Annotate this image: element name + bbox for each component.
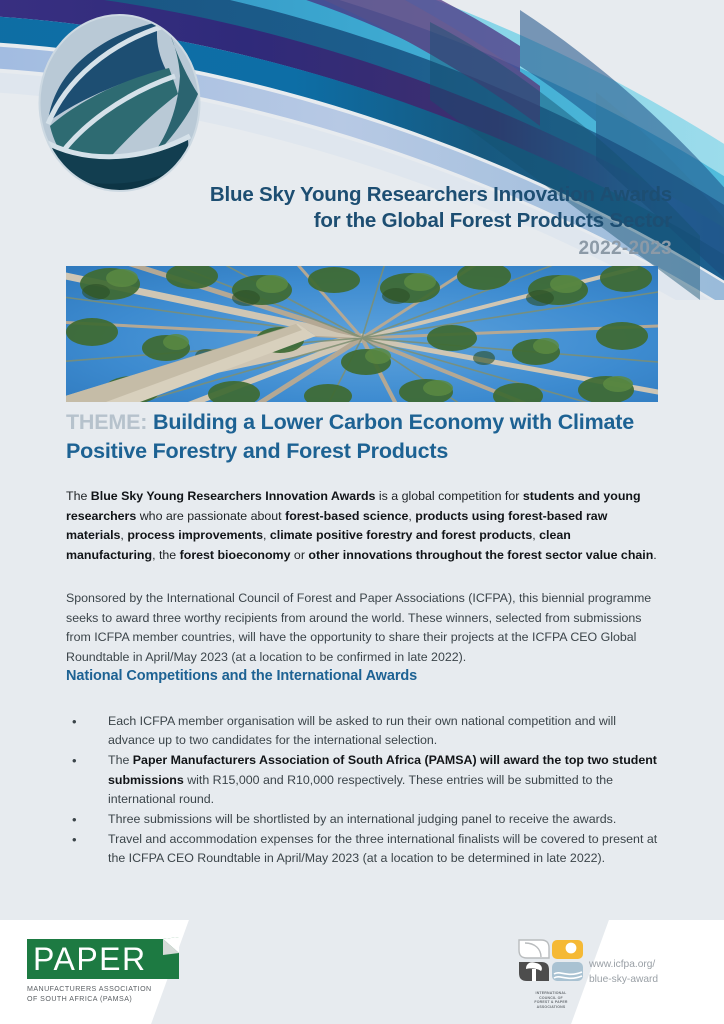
awards-bullet-list: •Each ICFPA member organisation will be … xyxy=(66,712,664,870)
eucalyptus-forest-canopy-photo xyxy=(66,266,658,402)
list-item-text: Each ICFPA member organisation will be a… xyxy=(108,714,616,747)
theme-value: Building a Lower Carbon Economy with Cli… xyxy=(66,410,634,463)
page-title-line1: Blue Sky Young Researchers Innovation Aw… xyxy=(150,182,672,208)
icfpa-url-line2: blue-sky-award xyxy=(589,972,719,987)
pamsa-subtitle: MANUFACTURERS ASSOCIATION OF SOUTH AFRIC… xyxy=(27,984,187,1005)
pamsa-paper-logo: PAPER MANUFACTURERS ASSOCIATION OF SOUTH… xyxy=(27,937,187,1005)
list-item-text: Three submissions will be shortlisted by… xyxy=(108,812,616,826)
icfpa-url[interactable]: www.icfpa.org/ blue-sky-award xyxy=(589,957,719,987)
list-item: •Three submissions will be shortlisted b… xyxy=(66,810,664,829)
pamsa-wordmark-mark: PAPER xyxy=(27,937,179,979)
bullet-marker-icon: • xyxy=(72,751,77,770)
pamsa-subtitle-line1: MANUFACTURERS ASSOCIATION xyxy=(27,984,187,994)
intro-paragraph: The Blue Sky Young Researchers Innovatio… xyxy=(66,487,662,565)
bullet-marker-icon: • xyxy=(72,712,77,731)
footer: PAPER MANUFACTURERS ASSOCIATION OF SOUTH… xyxy=(0,920,724,1024)
poster-page: Blue Sky Young Researchers Innovation Aw… xyxy=(0,0,724,1024)
title-block: Blue Sky Young Researchers Innovation Aw… xyxy=(150,182,672,264)
icfpa-caption: INTERNATIONAL COUNCIL OF FOREST & PAPER … xyxy=(517,991,585,1009)
blue-sky-globe-leaf-logo xyxy=(38,14,201,192)
list-item-text: Travel and accommodation expenses for th… xyxy=(108,832,657,865)
sponsor-paragraph: Sponsored by the International Council o… xyxy=(66,589,658,667)
svg-text:PAPER: PAPER xyxy=(33,941,147,977)
list-item: •The Paper Manufacturers Association of … xyxy=(66,751,664,809)
bullet-marker-icon: • xyxy=(72,810,77,829)
list-item: •Each ICFPA member organisation will be … xyxy=(66,712,664,750)
icfpa-logo: INTERNATIONAL COUNCIL OF FOREST & PAPER … xyxy=(517,938,585,1009)
list-item: •Travel and accommodation expenses for t… xyxy=(66,830,664,868)
bullet-marker-icon: • xyxy=(72,830,77,849)
section-heading: National Competitions and the Internatio… xyxy=(66,668,658,684)
icfpa-caption-line4: ASSOCIATIONS xyxy=(517,1005,585,1010)
pamsa-subtitle-line2: OF SOUTH AFRICA (PAMSA) xyxy=(27,994,187,1004)
year-label: 2022-2023 xyxy=(150,234,672,264)
theme-heading: THEME: Building a Lower Carbon Economy w… xyxy=(66,408,662,465)
page-title-line2: for the Global Forest Products Sector xyxy=(150,208,672,234)
theme-label: THEME: xyxy=(66,410,147,434)
list-item-text: The Paper Manufacturers Association of S… xyxy=(108,753,657,805)
icfpa-url-line1: www.icfpa.org/ xyxy=(589,957,719,972)
